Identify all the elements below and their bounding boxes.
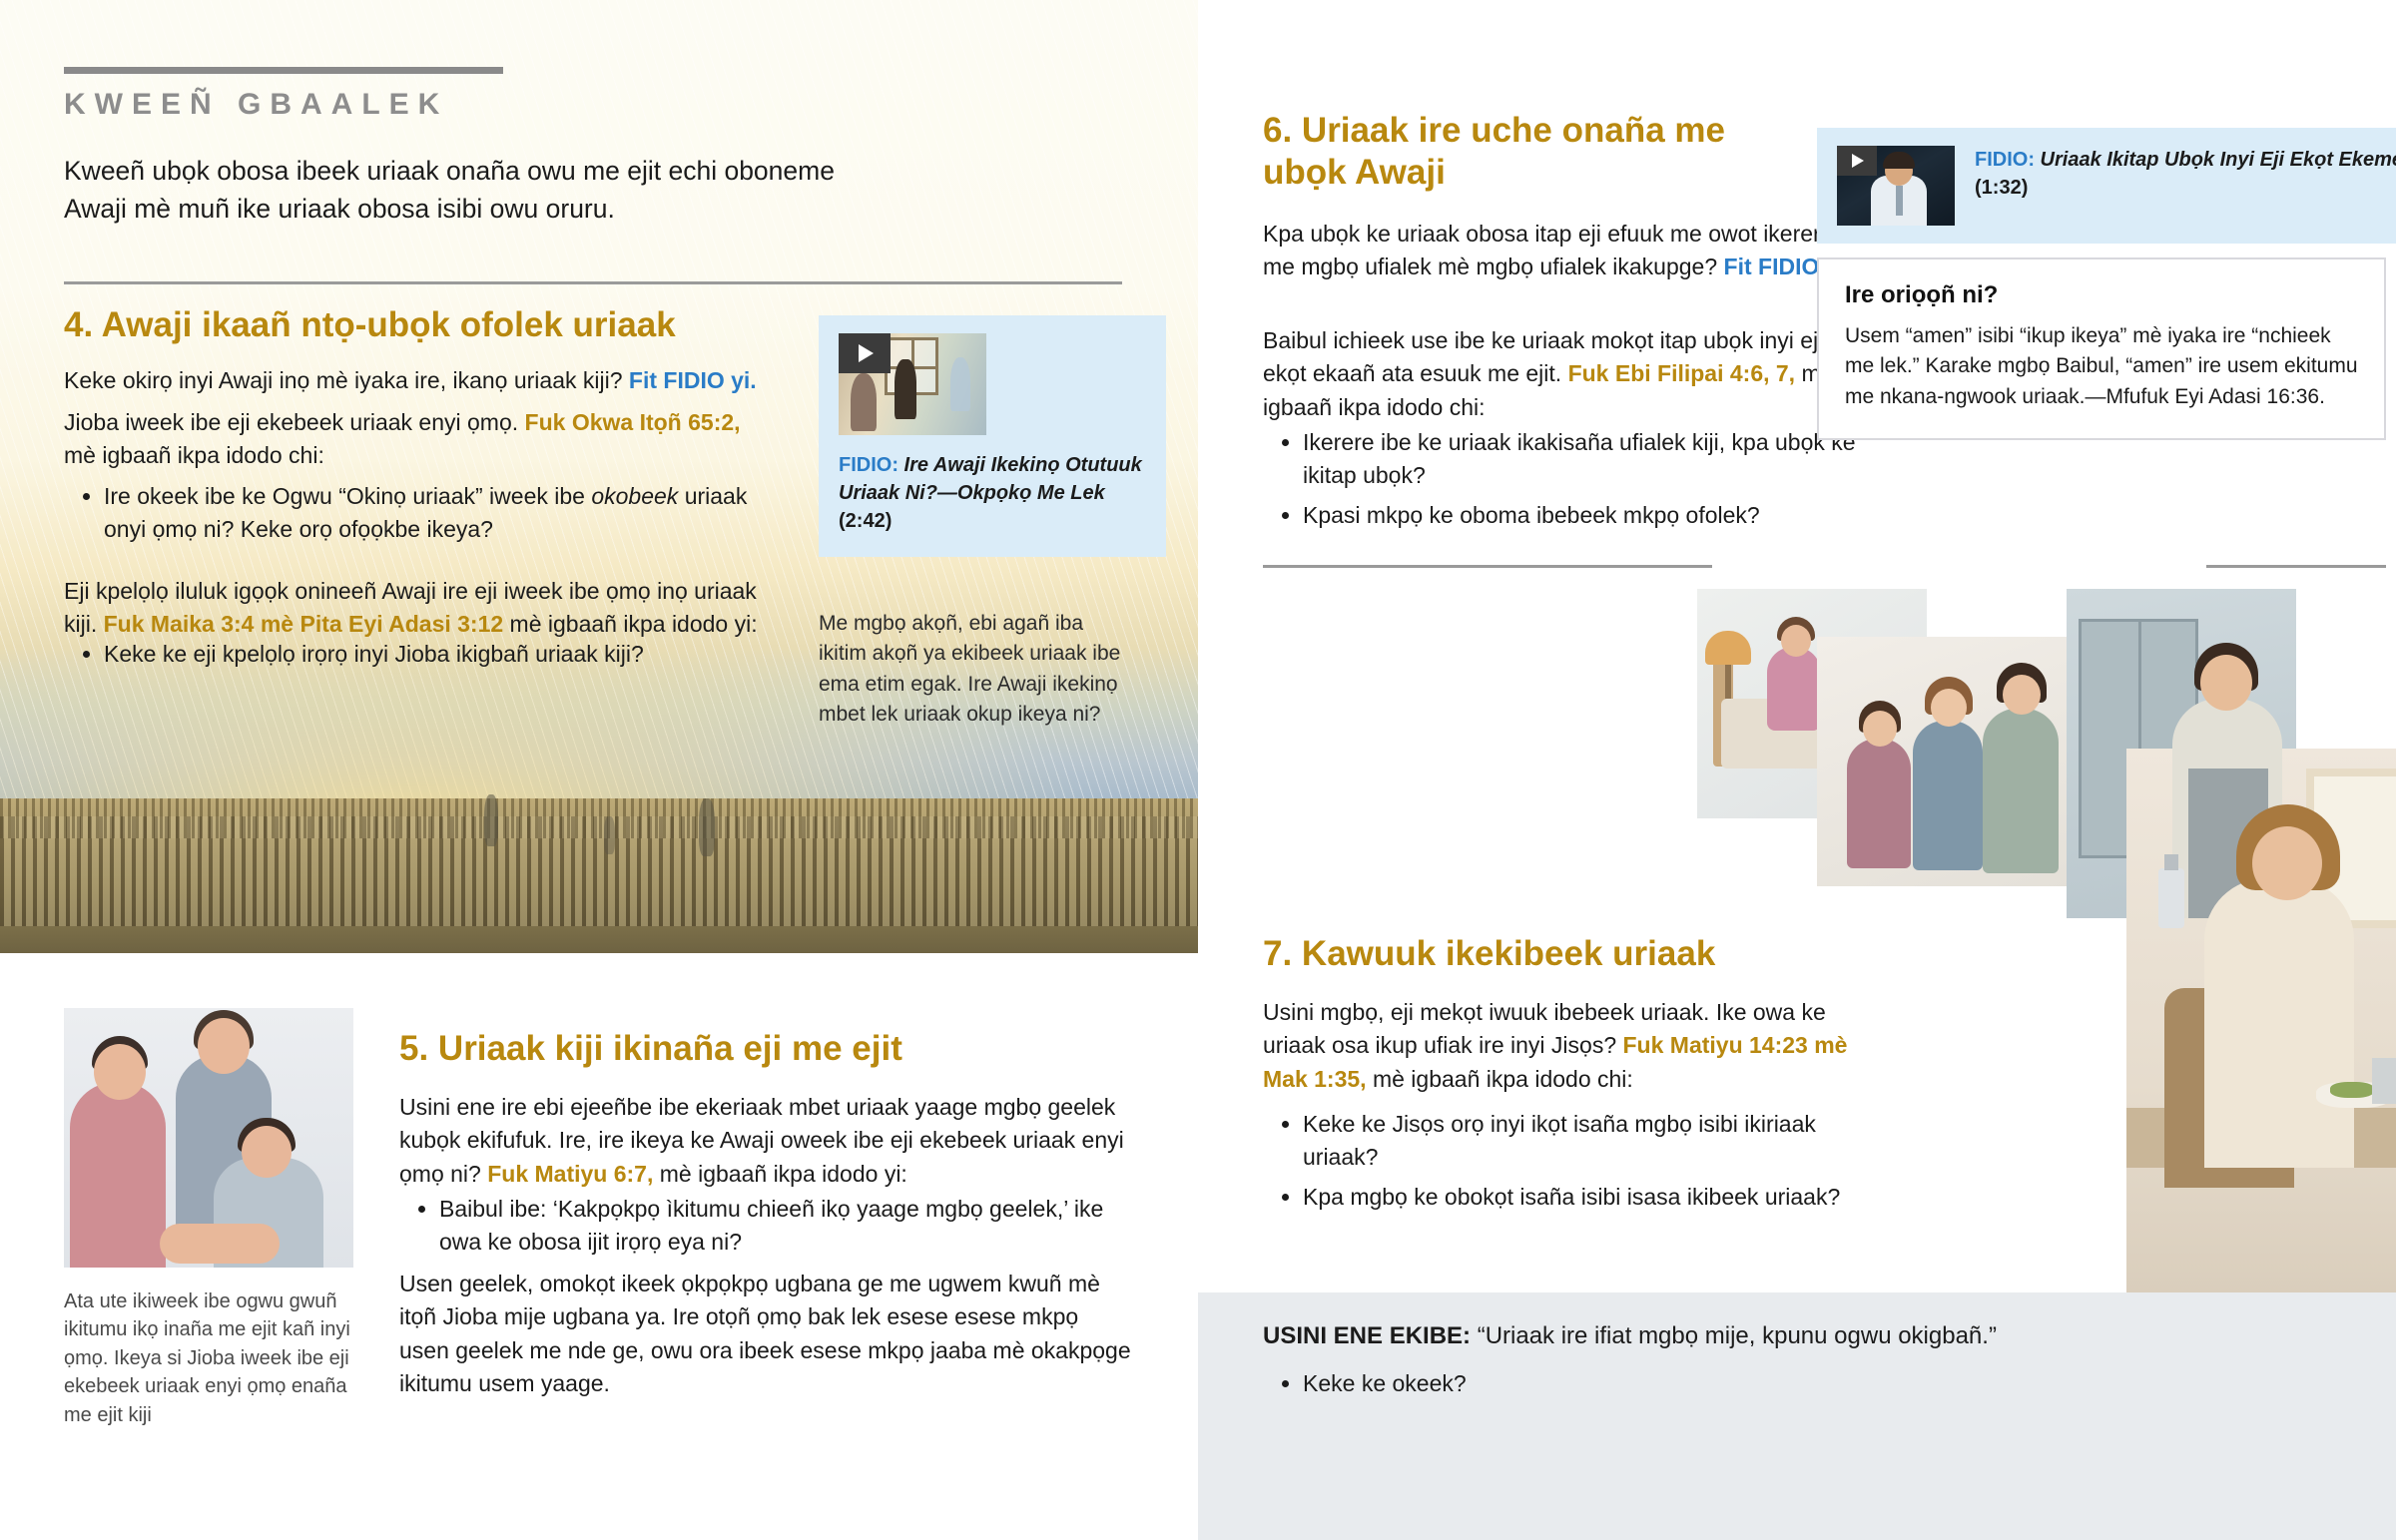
video-duration-1: (2:42) (839, 510, 892, 532)
thumbnail-speaker-hair (1883, 152, 1915, 169)
scripture-ref-filipai[interactable]: Fuk Ebi Filipai 4:6, 7, (1568, 360, 1796, 386)
section-4-paragraph-2: Jioba iweek ibe eji ekebeek uriaak enyi … (64, 406, 763, 473)
group-person-1-head (1863, 711, 1897, 747)
photo-boy-head (242, 1126, 292, 1178)
list-item: Ire okeek ibe ke Ogwu “Okinọ uriaak” iwe… (104, 480, 783, 547)
section-4-paragraph-1: Keke okirọ inyi Awaji inọ mè iyaka ire, … (64, 364, 763, 397)
praying-woman-body (2204, 878, 2354, 1168)
hero-figure-left (484, 794, 498, 846)
photo-father-head (94, 1044, 146, 1100)
hero-figure-right (699, 798, 715, 856)
summary-quote: “Uriaak ire ifiat mgbọ mije, kpunu ogwu … (1471, 1322, 1997, 1349)
video-thumbnail-2[interactable] (1837, 146, 1955, 226)
summary-label: USINI ENE EKIBE: (1263, 1322, 1471, 1349)
video-box-2[interactable]: FIDIO: Uriaak Ikitap Ubọk Inyi Eji Ekọt … (1817, 128, 2396, 244)
s7-p1-b: mè igbaañ ikpa idodo chi: (1367, 1066, 1633, 1092)
section-6-paragraph-2: Baibul ichieek use ibe ke uriaak mokọt i… (1263, 324, 1862, 424)
thumbnail-speaker-tie (1896, 186, 1903, 216)
lamp-stem (1725, 665, 1731, 699)
info-box-body: Usem “amen” isibi “ikup ikeya” mè iyaka … (1845, 321, 2358, 412)
s4-p2-a: Jioba iweek ibe eji ekebeek uriaak enyi … (64, 409, 525, 435)
section-5-heading: 5. Uriaak kiji ikinaña eji me ejit (399, 1028, 1118, 1070)
list-item: Baibul ibe: ‘Kakpọkpọ ìkitumu chieeñ ikọ… (439, 1193, 1128, 1260)
section-4-bullet-list-2: Keke ke eji kpelọlọ irọrọ inyi Jioba iki… (64, 638, 783, 677)
illustration-rule-left (1263, 565, 1712, 568)
info-box-heading: Ire oriọọñ ni? (1845, 281, 2358, 309)
s4-p1-text: Keke okirọ inyi Awaji inọ mè iyaka ire, … (64, 367, 629, 393)
scripture-ref-maika-pita[interactable]: Fuk Maika 3:4 mè Pita Eyi Adasi 3:12 (104, 611, 504, 637)
section-5-paragraph-2: Usen geelek, omokọt ikeek ọkpọkpọ ugbana… (399, 1268, 1133, 1400)
thumbnail-figure-right (950, 357, 970, 411)
group-person-1-body (1847, 739, 1911, 868)
section-4-paragraph-3: Eji kpelọlọ iluluk igọọk onineeñ Awaji i… (64, 575, 773, 642)
video-thumbnail-1[interactable] (839, 333, 986, 435)
illustration-rule-right (2206, 565, 2386, 568)
video-label-1: FIDIO: (839, 454, 898, 476)
section-7-paragraph-1: Usini mgbọ, eji mekọt iwuuk ibebeek uria… (1263, 996, 1882, 1096)
video-link-1[interactable]: Fit FIDIO yi. (629, 367, 757, 393)
spray-bottle (2158, 868, 2184, 928)
photo-caption: Ata ute ikiweek ibe ogwu gwuñ ikitumu ik… (64, 1287, 363, 1429)
section-7-bullet-list: Keke ke Jisọs orọ inyi ikọt isaña mgbọ i… (1263, 1108, 1882, 1220)
section-6-bullet-list: Ikerere ibe ke uriaak ikakisaña ufialek … (1263, 426, 1862, 538)
s5-p1-b: mè igbaañ ikpa idodo yi: (653, 1161, 906, 1187)
bedroom-person-head (1781, 625, 1811, 657)
list-item: Keke ke Jisọs orọ inyi ikọt isaña mgbọ i… (1303, 1108, 1882, 1175)
lamp-shade (1705, 631, 1751, 665)
summary-bullet-list: Keke ke okeek? (1263, 1367, 1962, 1406)
top-rule (64, 67, 503, 74)
s4-p3-b: mè igbaañ ikpa idodo yi: (503, 611, 757, 637)
video-caption-2: FIDIO: Uriaak Ikitap Ubọk Inyi Eji Ekọt … (1975, 146, 2396, 203)
section-5-bullet-list: Baibul ibe: ‘Kakpọkpọ ìkitumu chieeñ ikọ… (399, 1193, 1128, 1266)
s4-p2-b: mè igbaañ ikpa idodo chi: (64, 442, 324, 468)
intro-paragraph: Kweeñ ubọk obosa ibeek uriaak onaña owu … (64, 152, 893, 229)
did-you-know-box: Ire oriọọñ ni? Usem “amen” isibi “ikup i… (1817, 257, 2386, 440)
photo-father (70, 1082, 166, 1268)
section-5-paragraph-1: Usini ene ire ebi ejeeñbe ibe ekeriaak m… (399, 1091, 1128, 1191)
video-caption-1: FIDIO: Ire Awaji Ikekinọ Otutuuk Uriaak … (839, 451, 1146, 535)
list-item: Keke ke okeek? (1303, 1367, 1962, 1400)
hero-figure-center (604, 816, 615, 854)
photo-mother-head (198, 1018, 250, 1074)
list-item: Keke ke eji kpelọlọ irọrọ inyi Jioba iki… (104, 638, 783, 671)
scripture-ref-okwa-iton[interactable]: Fuk Okwa Itọñ 65:2, (525, 409, 741, 435)
family-photo (64, 1008, 353, 1268)
play-icon[interactable] (1837, 146, 1877, 176)
section-divider (64, 281, 1122, 284)
hero-crowd (0, 798, 1198, 953)
thumbnail-figure-left (851, 373, 877, 431)
scripture-ref-matiyu-6-7[interactable]: Fuk Matiyu 6:7, (487, 1161, 653, 1187)
section-4-bullet-list-1: Ire okeek ibe ke Ogwu “Okinọ uriaak” iwe… (64, 480, 783, 553)
section-6-heading: 6. Uriaak ire uche onaña me ubọk Awaji (1263, 110, 1742, 194)
play-icon[interactable] (839, 333, 891, 373)
group-person-2-head (1931, 689, 1967, 727)
left-page: KWEEÑ GBAALEK Kweeñ ubọk obosa ibeek uri… (0, 0, 1198, 1540)
video-duration-2: (1:32) (1975, 177, 2028, 199)
group-person-3-head (2003, 675, 2041, 715)
section-7-heading: 7. Kawuuk ikekibeek uriaak (1263, 933, 1882, 975)
video-label-2: FIDIO: (1975, 149, 2035, 171)
bedroom-person-body (1767, 647, 1821, 731)
praying-woman-head (2252, 826, 2322, 900)
s4-b1-a: Ire okeek ibe ke Ogwu “Okinọ uriaak” iwe… (104, 483, 591, 509)
thumbnail-figure-center (895, 359, 916, 419)
food-salad (2330, 1082, 2374, 1098)
photo-hands (160, 1224, 280, 1264)
group-person-2-body (1913, 721, 1983, 870)
section-6-paragraph-1: Kpa ubọk ke uriaak obosa itap eji efuuk … (1263, 218, 1852, 284)
group-person-3-body (1983, 709, 2059, 873)
section-4-heading: 4. Awaji ikaañ ntọ-ubọk ofolek uriaak (64, 304, 823, 346)
list-item: Kpa mgbọ ke obokọt isaña isibi isasa iki… (1303, 1181, 1882, 1214)
list-item: Ikerere ibe ke uriaak ikakisaña ufialek … (1303, 426, 1862, 493)
video-title-2: Uriaak Ikitap Ubọk Inyi Eji Ekọt Ekeme (2035, 149, 2396, 171)
list-item: Kpasi mkpọ ke oboma ibebeek mkpọ ofolek? (1303, 499, 1862, 532)
video-box-1[interactable]: FIDIO: Ire Awaji Ikekinọ Otutuuk Uriaak … (819, 315, 1166, 557)
s4-b1-italic: okobeek (591, 483, 678, 509)
page-kicker: KWEEÑ GBAALEK (64, 88, 448, 122)
right-page: 6. Uriaak ire uche onaña me ubọk Awaji K… (1198, 0, 2396, 1540)
two-page-spread: KWEEÑ GBAALEK Kweeñ ubọk obosa ibeek uri… (0, 0, 2396, 1540)
worker-head (2200, 655, 2252, 711)
summary-line: USINI ENE EKIBE: “Uriaak ire ifiat mgbọ … (1263, 1319, 2351, 1354)
side-note-1: Me mgbọ akọñ, ebi agañ iba ikitim akọñ y… (819, 609, 1128, 731)
kitchen-faucet (2372, 1058, 2396, 1104)
